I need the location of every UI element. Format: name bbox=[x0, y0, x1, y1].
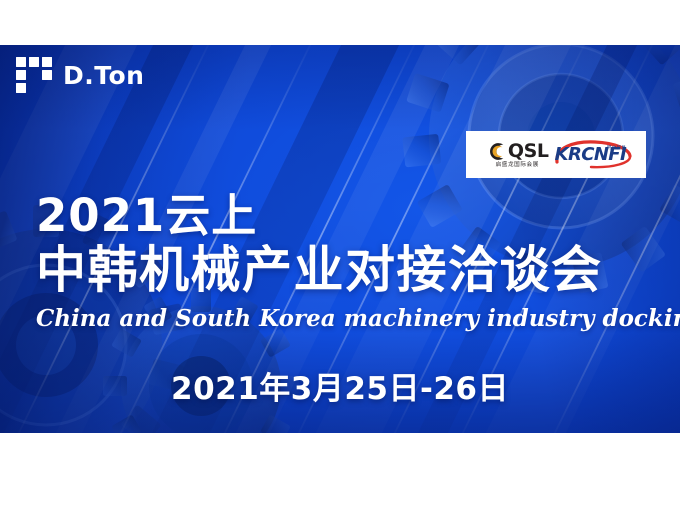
brand-lockup[interactable]: D.Ton bbox=[16, 57, 144, 93]
krcnfi-subtitle: 韩中贸易 bbox=[607, 145, 626, 151]
headline-line-1: 2021云上 bbox=[36, 193, 680, 238]
qsl-subtitle: 启盛龙国际会展 bbox=[496, 163, 539, 169]
sponsor-logo-plate: QSL 启盛龙国际会展 韩中贸易 KRCNFI bbox=[466, 131, 646, 178]
headline-line-2: 中韩机械产业对接洽谈会 bbox=[36, 245, 680, 295]
event-date: 2021年3月25日-26日 bbox=[0, 363, 680, 408]
dton-grid-icon bbox=[16, 57, 52, 93]
event-banner: D.Ton QSL 启盛龙国际会展 韩中贸易 bbox=[0, 45, 680, 433]
banner-stage: D.Ton QSL 启盛龙国际会展 韩中贸易 bbox=[0, 0, 680, 510]
qsl-swoosh-icon bbox=[486, 141, 507, 162]
brand-name: D.Ton bbox=[63, 61, 144, 90]
headline-block: 2021云上 中韩机械产业对接洽谈会 China and South Korea… bbox=[36, 193, 680, 330]
headline-subtitle-english: China and South Korea machinery industry… bbox=[36, 307, 680, 330]
sponsor-logo-krcnfi[interactable]: 韩中贸易 KRCNFI bbox=[555, 146, 626, 164]
sponsor-logo-qsl[interactable]: QSL 启盛龙国际会展 bbox=[486, 141, 549, 169]
qsl-wordmark: QSL bbox=[508, 142, 549, 161]
